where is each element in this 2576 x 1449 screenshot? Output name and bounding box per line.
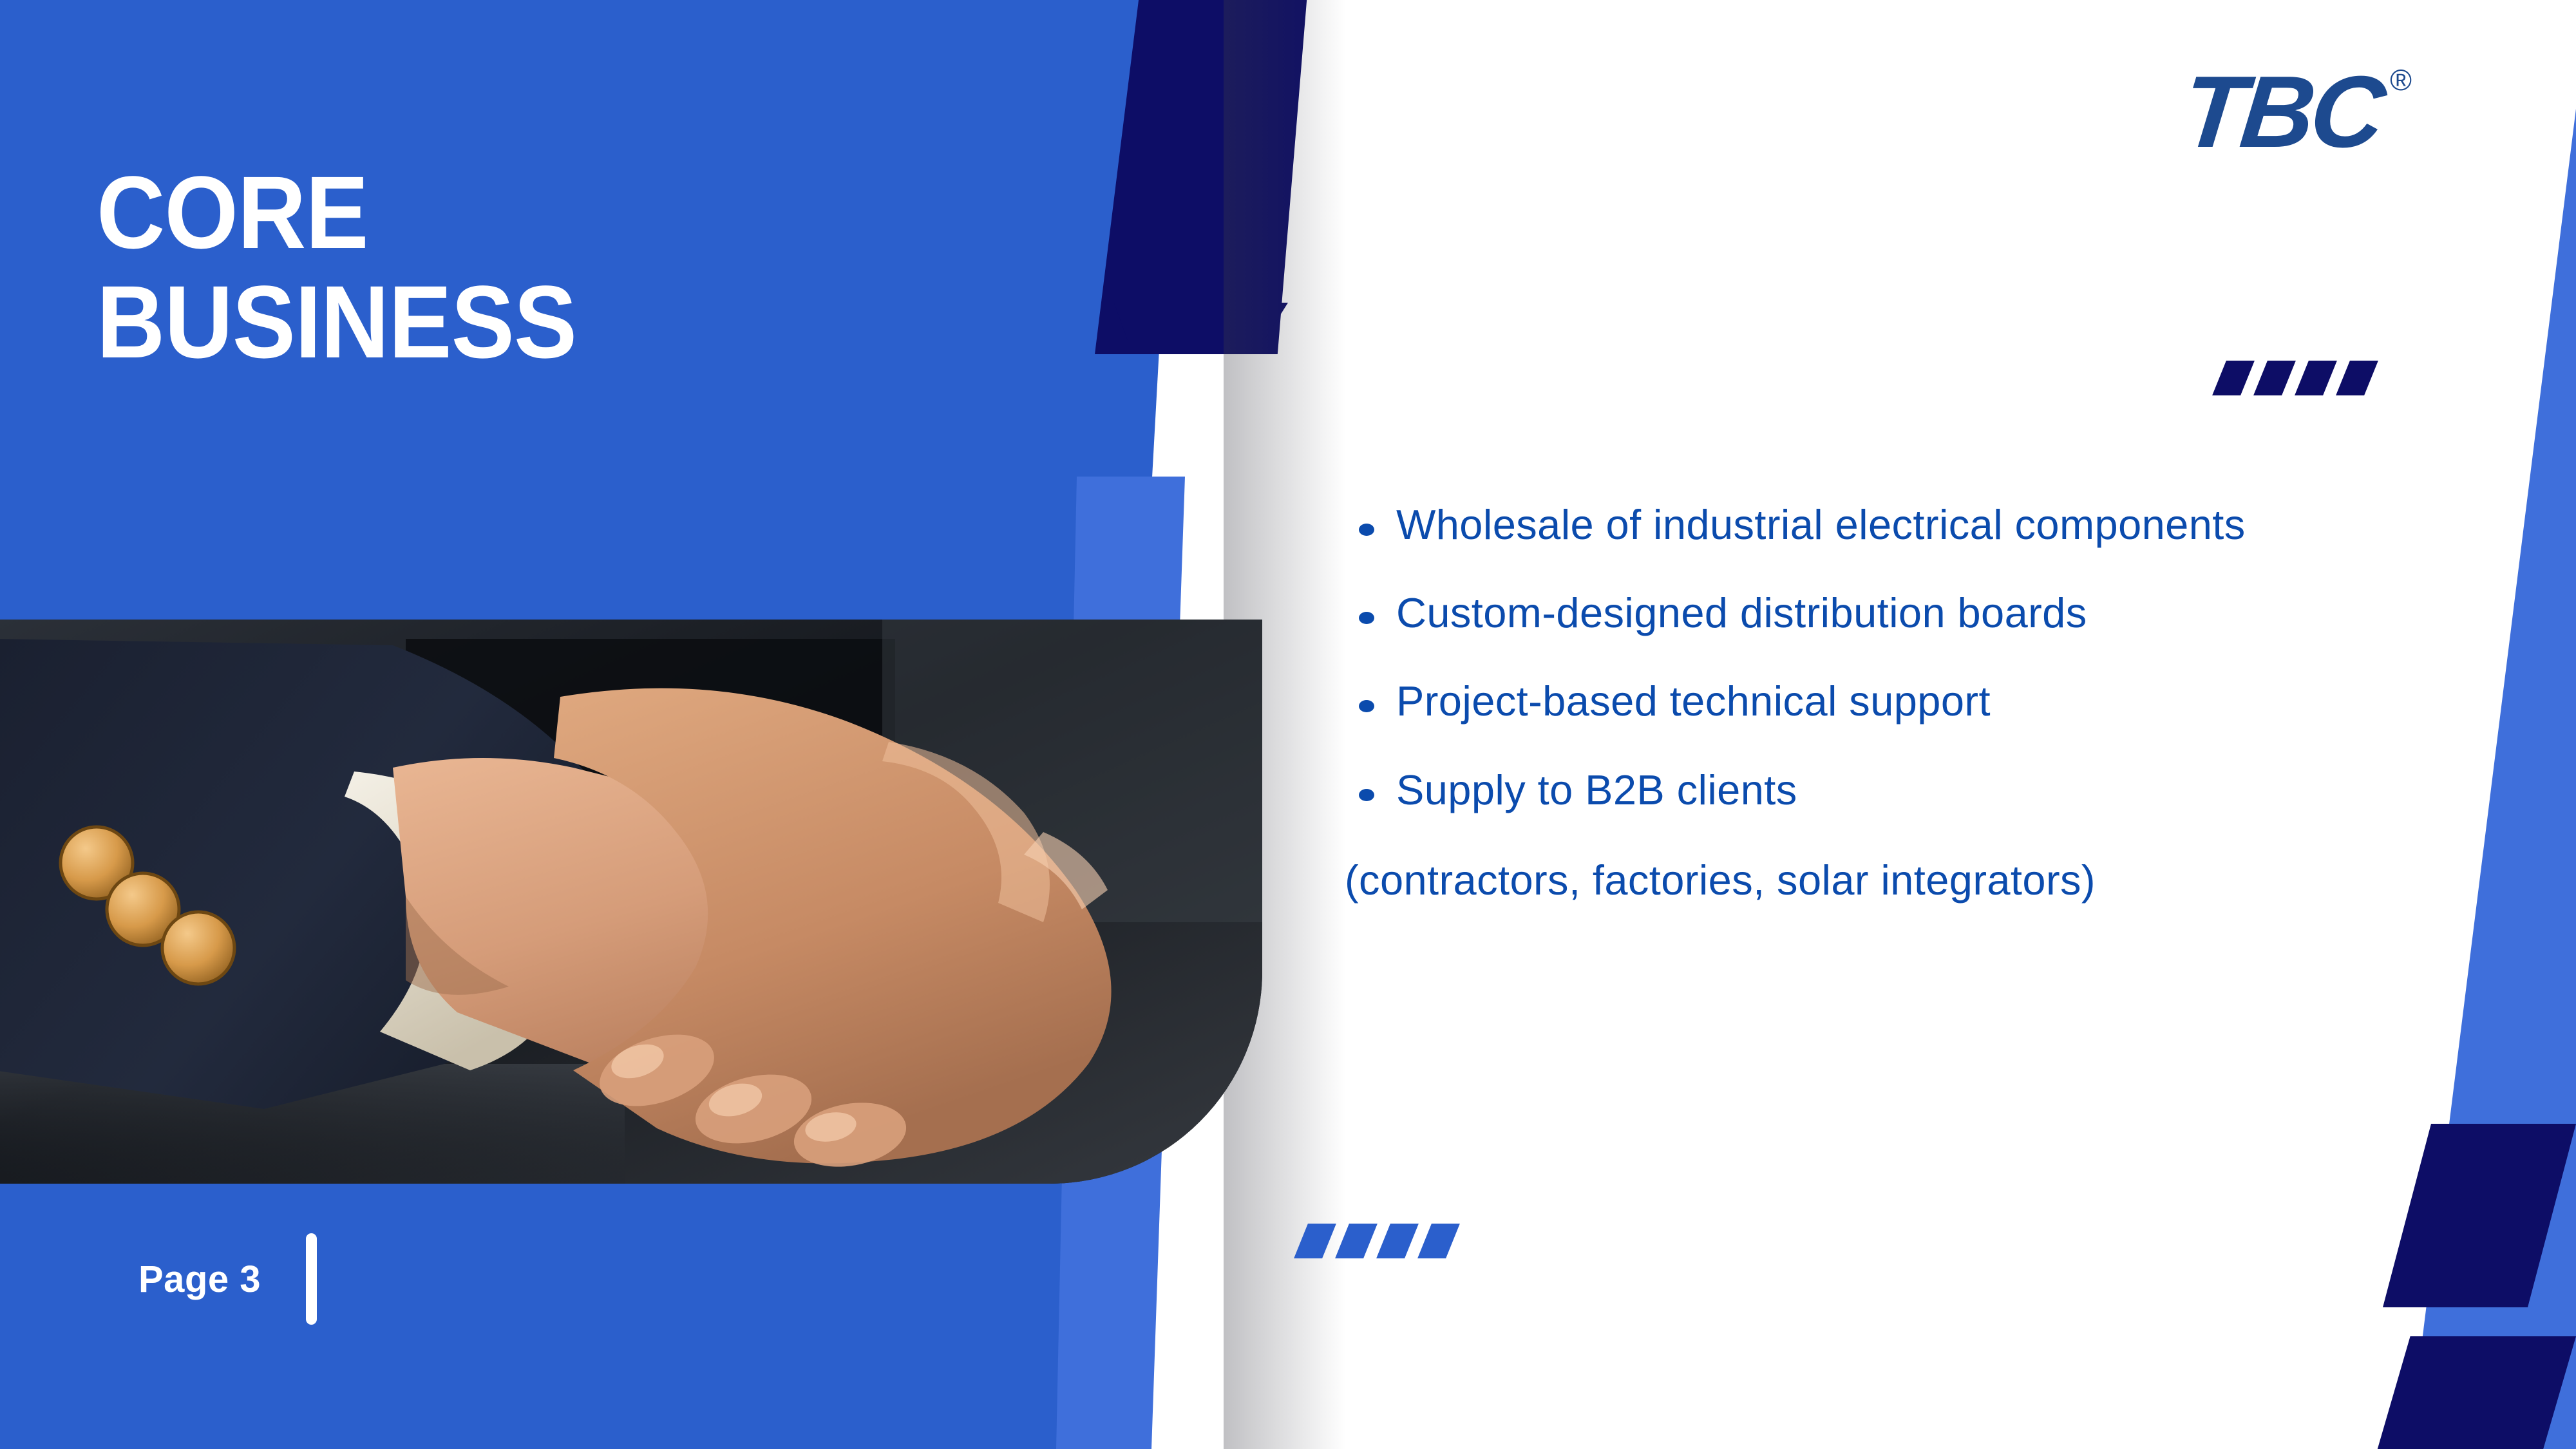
list-item: Supply to B2B clients bbox=[1359, 768, 2467, 813]
handshake-photo bbox=[0, 620, 1262, 1184]
tbc-wordmark: TBC bbox=[2178, 61, 2386, 163]
page-title: CORE BUSINESS bbox=[97, 158, 576, 376]
navy-angled-slab-lower bbox=[1114, 303, 1288, 341]
bullet-text: Project-based technical support bbox=[1396, 679, 1991, 724]
registered-trademark-icon: ® bbox=[2390, 65, 2412, 95]
list-item: Project-based technical support bbox=[1359, 679, 2467, 724]
bullet-dot-icon bbox=[1359, 789, 1374, 801]
handshake-illustration bbox=[0, 620, 1262, 1184]
bullet-text: Wholesale of industrial electrical compo… bbox=[1396, 502, 2246, 547]
decorative-slashes-top bbox=[2219, 361, 2371, 395]
page-number-label: Page 3 bbox=[138, 1258, 261, 1301]
bullet-list: Wholesale of industrial electrical compo… bbox=[1359, 502, 2467, 904]
bullet-dot-icon bbox=[1359, 612, 1374, 624]
page-divider-bar bbox=[306, 1233, 317, 1325]
list-item: Wholesale of industrial electrical compo… bbox=[1359, 502, 2467, 547]
bullet-dot-icon bbox=[1359, 700, 1374, 712]
bullet-text: Supply to B2B clients bbox=[1396, 768, 1797, 813]
bullet-dot-icon bbox=[1359, 524, 1374, 536]
page-footer: Page 3 bbox=[138, 1233, 317, 1325]
list-item: Custom-designed distribution boards bbox=[1359, 591, 2467, 636]
slash-mark bbox=[2253, 361, 2296, 395]
slash-mark bbox=[2295, 361, 2337, 395]
slash-mark bbox=[1335, 1224, 1378, 1258]
tbc-logo: TBC ® bbox=[2183, 61, 2412, 163]
slash-mark bbox=[1376, 1224, 1419, 1258]
bullet-note-text: (contractors, factories, solar integrato… bbox=[1345, 856, 2467, 904]
decorative-slashes-bottom bbox=[1301, 1224, 1453, 1258]
bullet-text: Custom-designed distribution boards bbox=[1396, 591, 2087, 636]
slide-canvas: CORE BUSINESS bbox=[0, 0, 2576, 1449]
